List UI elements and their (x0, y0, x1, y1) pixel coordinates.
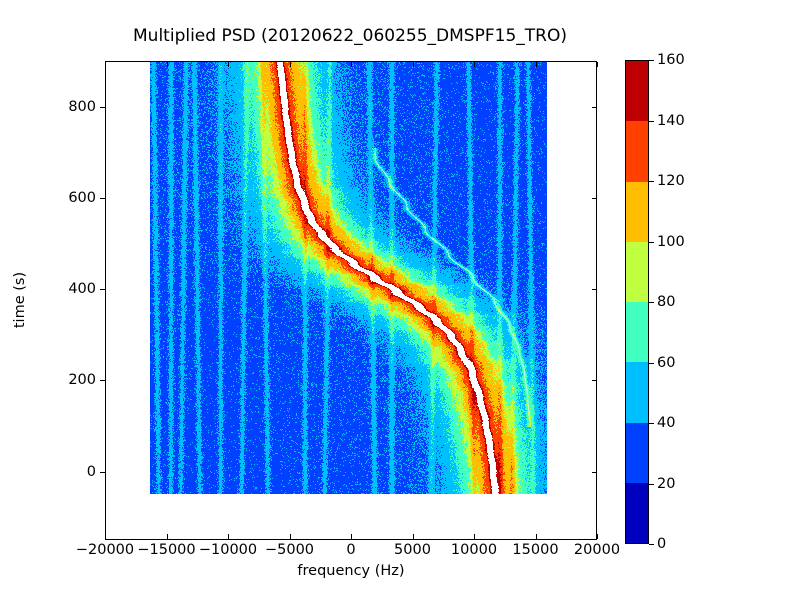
colorbar-tick (649, 302, 654, 303)
y-tick-inner (592, 198, 597, 199)
colorbar-tick (649, 242, 654, 243)
x-tick-inner (105, 62, 106, 67)
colorbar-tick-label: 140 (657, 113, 685, 129)
colorbar (625, 60, 649, 544)
colorbar-tick (649, 484, 654, 485)
x-tick-inner (228, 62, 229, 67)
colorbar-tick (649, 60, 654, 61)
x-tick (351, 534, 352, 539)
y-tick (100, 107, 105, 108)
colorbar-tick (649, 121, 654, 122)
x-tick-inner (413, 62, 414, 67)
x-tick (167, 534, 168, 539)
x-tick-inner (167, 62, 168, 67)
y-tick (100, 289, 105, 290)
colorbar-tick-label: 160 (657, 52, 685, 68)
colorbar-tick-label: 100 (657, 234, 685, 250)
colorbar-band (626, 423, 648, 483)
colorbar-tick-label: 60 (657, 355, 675, 371)
y-tick-label: 800 (0, 99, 96, 115)
x-tick-label: −10000 (199, 542, 257, 558)
colorbar-tick-label: 0 (657, 536, 666, 552)
x-tick-label: −5000 (265, 542, 314, 558)
y-tick-inner (592, 107, 597, 108)
x-tick-label: −15000 (137, 542, 195, 558)
colorbar-tick-label: 120 (657, 173, 685, 189)
colorbar-band (626, 242, 648, 302)
x-tick-inner (290, 62, 291, 67)
colorbar-band (626, 182, 648, 242)
y-tick (100, 380, 105, 381)
colorbar-band (626, 362, 648, 422)
x-tick-label: 0 (346, 542, 355, 558)
y-tick (100, 472, 105, 473)
y-tick-inner (592, 472, 597, 473)
colorbar-tick (649, 181, 654, 182)
colorbar-tick (649, 544, 654, 545)
x-tick-inner (597, 62, 598, 67)
x-tick-inner (474, 62, 475, 67)
x-tick-label: 10000 (451, 542, 497, 558)
y-tick (100, 198, 105, 199)
chart-title: Multiplied PSD (20120622_060255_DMSPF15_… (0, 26, 700, 46)
x-tick-label: −20000 (76, 542, 134, 558)
x-tick (474, 534, 475, 539)
x-axis-title: frequency (Hz) (105, 563, 597, 579)
y-tick-label: 600 (0, 190, 96, 206)
x-tick (413, 534, 414, 539)
x-tick-label: 5000 (394, 542, 431, 558)
x-tick-label: 20000 (574, 542, 620, 558)
colorbar-tick (649, 423, 654, 424)
colorbar-tick (649, 363, 654, 364)
x-tick (105, 534, 106, 539)
x-tick (536, 534, 537, 539)
y-tick-inner (592, 380, 597, 381)
colorbar-tick-label: 20 (657, 476, 675, 492)
x-tick-label: 15000 (512, 542, 558, 558)
x-tick (290, 534, 291, 539)
colorbar-band (626, 121, 648, 181)
x-tick (597, 534, 598, 539)
colorbar-tick-label: 40 (657, 415, 675, 431)
y-tick-inner (592, 289, 597, 290)
spectrogram-image (150, 62, 547, 494)
y-tick-label: 0 (0, 464, 96, 480)
x-tick-inner (536, 62, 537, 67)
y-axis-title: time (s) (12, 220, 28, 380)
colorbar-tick-label: 80 (657, 294, 675, 310)
colorbar-band (626, 61, 648, 121)
colorbar-band (626, 483, 648, 543)
x-tick-inner (351, 62, 352, 67)
figure-canvas: Multiplied PSD (20120622_060255_DMSPF15_… (0, 0, 800, 600)
colorbar-band (626, 302, 648, 362)
x-tick (228, 534, 229, 539)
